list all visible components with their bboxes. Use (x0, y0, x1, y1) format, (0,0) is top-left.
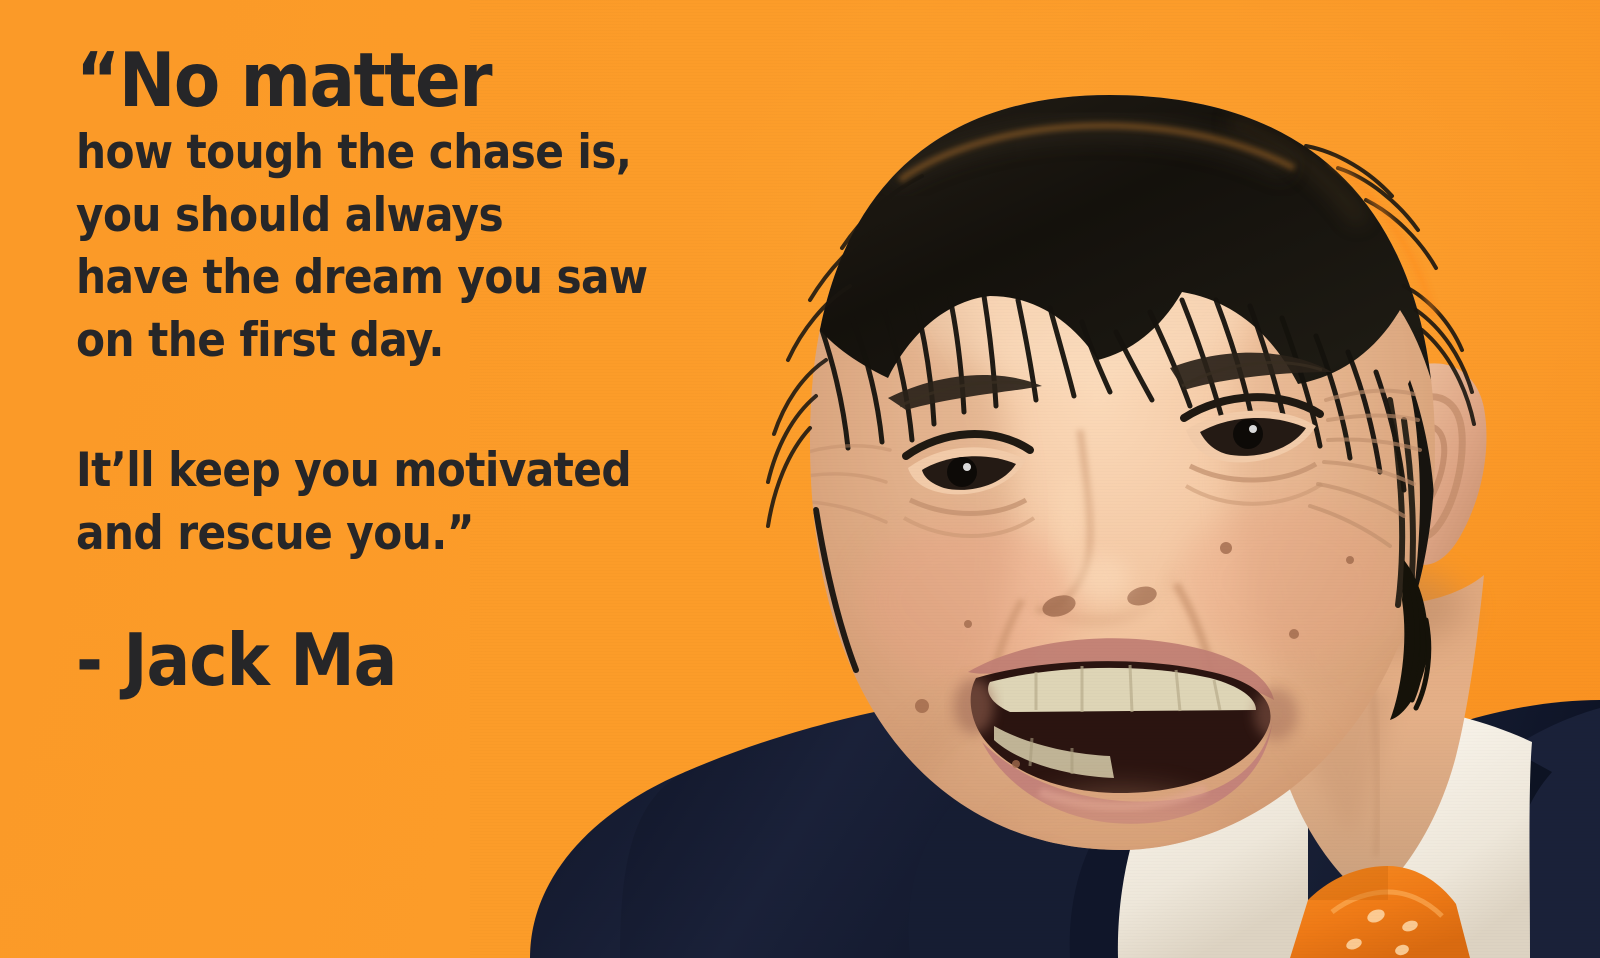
attribution-line: - Jack Ma (76, 623, 756, 699)
quote-line-1: “No matter (76, 44, 756, 116)
quote-line-2: how tough the chase is, (76, 122, 756, 185)
quote-line-5: on the first day. (76, 310, 756, 373)
quote-line-4: have the dream you saw (76, 247, 756, 310)
attribution-gap (76, 565, 756, 623)
quote-line-6: It’ll keep you motivated (76, 440, 756, 503)
quote-graphic-canvas: “No matter how tough the chase is, you s… (0, 0, 1600, 958)
quote-text-block: “No matter how tough the chase is, you s… (76, 44, 756, 699)
quote-paragraph-gap (76, 372, 756, 440)
quote-line-7: and rescue you.” (76, 503, 756, 566)
quote-line-3: you should always (76, 185, 756, 248)
